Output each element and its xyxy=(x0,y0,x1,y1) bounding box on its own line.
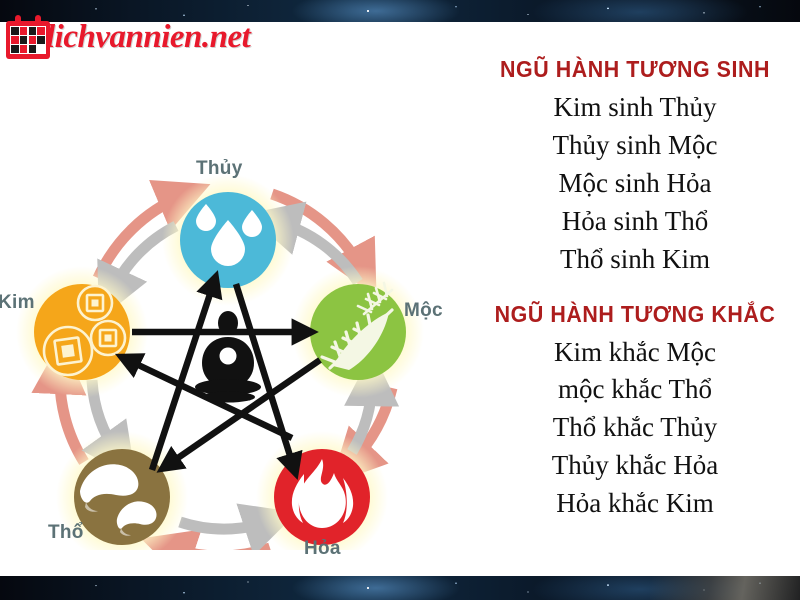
element-label-thuy: Thủy xyxy=(196,158,243,180)
list-item: Thủy sinh Mộc xyxy=(470,127,800,165)
element-label-tho: Thổ xyxy=(48,522,84,544)
starfield-banner-bottom xyxy=(0,576,800,600)
list-item: Kim khắc Mộc xyxy=(470,334,800,372)
list-item: mộc khắc Thổ xyxy=(470,371,800,409)
list-item: Thổ khắc Thủy xyxy=(470,409,800,447)
list-item: Mộc sinh Hỏa xyxy=(470,165,800,203)
list-item: Hỏa sinh Thổ xyxy=(470,203,800,241)
element-circle-thuy[interactable] xyxy=(180,192,276,288)
list-tuong-khac: Kim khắc Mộc mộc khắc Thổ Thổ khắc Thủy … xyxy=(470,334,800,524)
list-item: Kim sinh Thủy xyxy=(470,89,800,127)
element-label-moc: Mộc xyxy=(404,300,443,322)
list-item: Thổ sinh Kim xyxy=(470,241,800,279)
element-circle-hoa[interactable] xyxy=(274,449,370,545)
five-elements-diagram: Thủy Mộc Hỏa Thổ Kim xyxy=(0,70,470,550)
brand-name: lichvannien.net xyxy=(46,19,250,56)
calendar-icon xyxy=(6,15,52,59)
site-logo[interactable]: lichvannien.net xyxy=(6,12,250,62)
list-item: Thủy khắc Hỏa xyxy=(470,447,800,485)
list-tuong-sinh: Kim sinh Thủy Thủy sinh Mộc Mộc sinh Hỏa… xyxy=(470,89,800,279)
element-label-kim: Kim xyxy=(0,292,35,314)
heading-tuong-khac: NGŨ HÀNH TƯƠNG KHẮC xyxy=(482,301,789,328)
element-circle-kim[interactable] xyxy=(34,284,130,380)
element-label-hoa: Hỏa xyxy=(304,538,341,560)
list-item: Hỏa khắc Kim xyxy=(470,485,800,523)
heading-tuong-sinh: NGŨ HÀNH TƯƠNG SINH xyxy=(482,56,789,83)
slide-canvas: lichvannien.net xyxy=(0,0,800,600)
text-panel: NGŨ HÀNH TƯƠNG SINH Kim sinh Thủy Thủy s… xyxy=(470,40,800,570)
